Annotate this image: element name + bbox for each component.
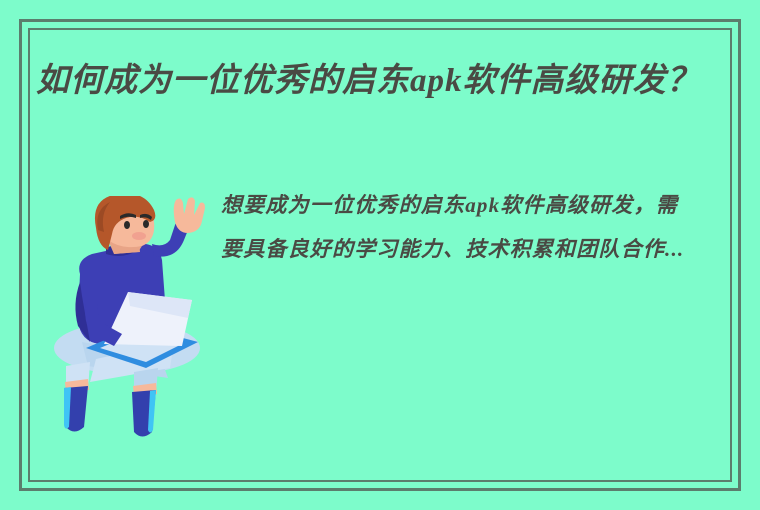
person-with-laptop-illustration bbox=[42, 196, 222, 440]
article-card: 如何成为一位优秀的启东apk软件高级研发？ 想要成为一位优秀的启东apk软件高级… bbox=[0, 0, 760, 510]
eye-front-shape bbox=[143, 220, 149, 228]
hand-shape bbox=[174, 197, 205, 233]
article-summary: 想要成为一位优秀的启东apk软件高级研发，需要具备良好的学习能力、技术积累和团队… bbox=[221, 183, 699, 271]
eye-back-shape bbox=[124, 221, 130, 229]
blush-shape bbox=[132, 232, 146, 240]
page-title: 如何成为一位优秀的启东apk软件高级研发？ bbox=[36, 58, 736, 105]
